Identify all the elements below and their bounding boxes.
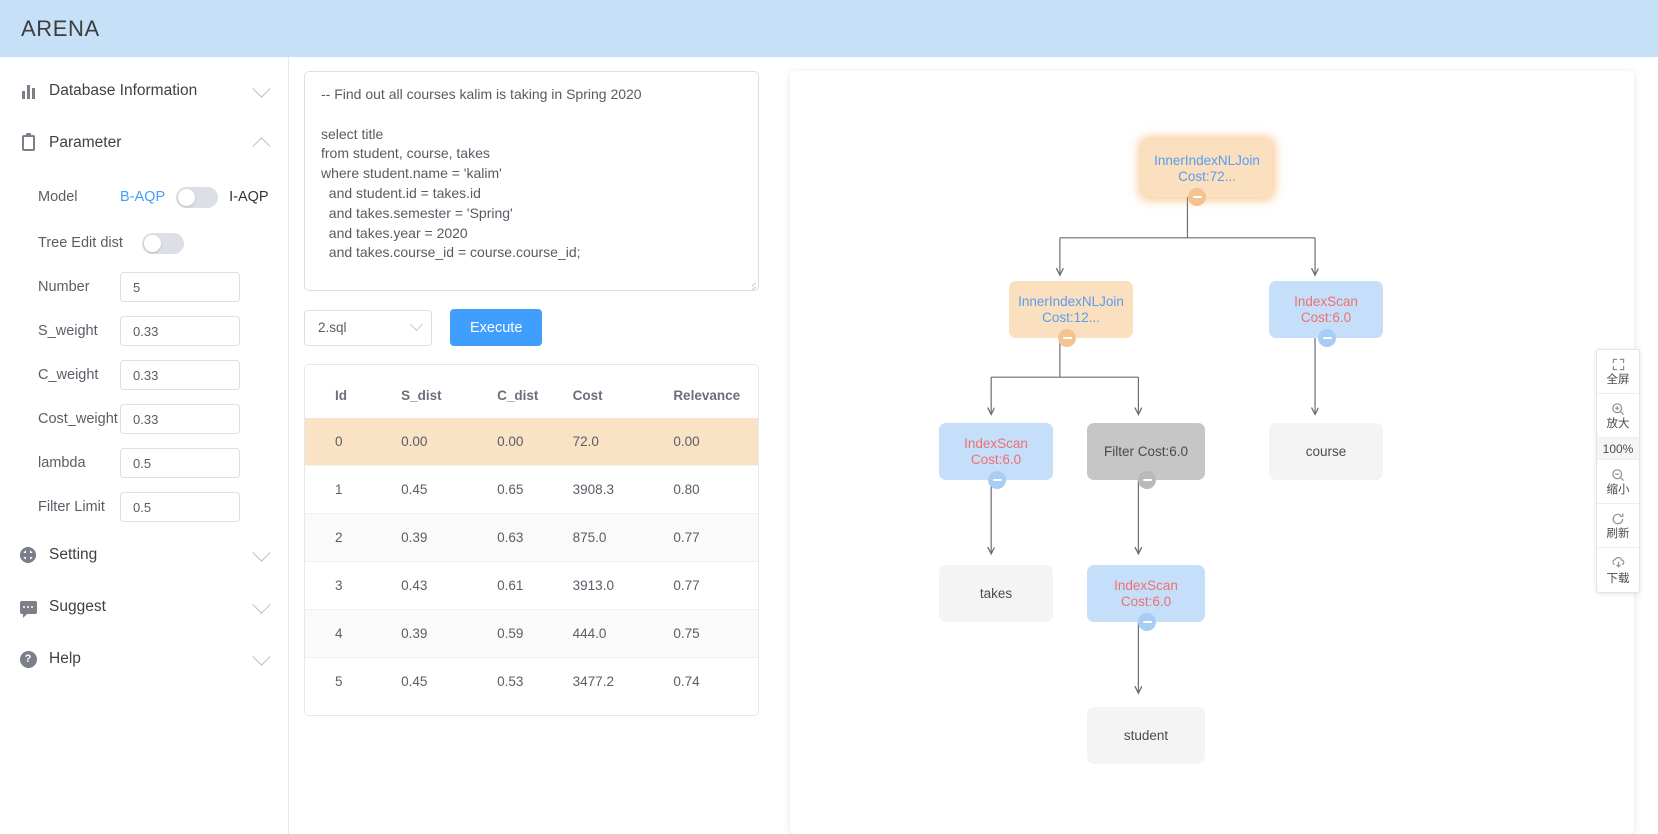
table-row[interactable]: 1 0.45 0.65 3908.3 0.80 xyxy=(305,466,758,514)
sidebar-item-setting[interactable]: Setting xyxy=(0,529,288,581)
clipboard-icon xyxy=(18,133,38,153)
cell-s-dist: 0.45 xyxy=(401,658,497,706)
param-label-filter-limit: Filter Limit xyxy=(38,499,120,515)
resize-handle-icon[interactable] xyxy=(746,278,756,288)
cell-c-dist: 0.59 xyxy=(497,610,573,658)
app-title: ARENA xyxy=(21,16,100,42)
refresh-icon xyxy=(1611,511,1625,526)
sidebar-item-help[interactable]: ? Help xyxy=(0,633,288,685)
app-shell: Database Information Parameter Model B-A… xyxy=(0,57,1658,834)
minus-icon xyxy=(1323,337,1332,339)
minus-icon xyxy=(1143,621,1152,623)
graph-toolbar-label: 放大 xyxy=(1607,418,1630,430)
plan-node-course[interactable]: course xyxy=(1269,423,1383,480)
lambda-input[interactable] xyxy=(120,448,240,478)
cell-c-dist: 0.61 xyxy=(497,562,573,610)
param-row-c-weight: C_weight xyxy=(0,353,288,397)
param-row-filter-limit: Filter Limit xyxy=(0,485,288,529)
fullscreen-icon xyxy=(1612,357,1625,372)
sql-editor[interactable]: -- Find out all courses kalim is taking … xyxy=(304,71,759,291)
node-label-line1: course xyxy=(1306,444,1347,460)
cell-c-dist: 0.65 xyxy=(497,466,573,514)
cell-cost: 3913.0 xyxy=(573,562,674,610)
graph-toolbar: 全屏 放大 100% 缩小 xyxy=(1596,349,1640,593)
plan-node-takes[interactable]: takes xyxy=(939,565,1053,622)
sidebar-item-parameter[interactable]: Parameter xyxy=(0,117,288,169)
node-label-line1: InnerIndexNLJoin xyxy=(1154,153,1260,169)
chevron-down-icon xyxy=(252,595,270,613)
sidebar-item-label: Suggest xyxy=(49,598,255,616)
column-header-relevance: Relevance xyxy=(673,365,758,418)
chevron-down-icon xyxy=(410,318,423,331)
minus-icon xyxy=(1063,337,1072,339)
cell-c-dist: 0.53 xyxy=(497,658,573,706)
sidebar-item-label: Parameter xyxy=(49,134,255,152)
cell-id: 4 xyxy=(305,610,401,658)
model-option-right[interactable]: I-AQP xyxy=(229,189,268,205)
collapse-toggle-root[interactable] xyxy=(1188,188,1206,206)
table-row[interactable]: 3 0.43 0.61 3913.0 0.77 xyxy=(305,562,758,610)
zoom-level-value: 100% xyxy=(1603,443,1634,455)
cell-id: 0 xyxy=(305,418,401,466)
param-label-s-weight: S_weight xyxy=(38,323,120,339)
cell-relevance: 0.74 xyxy=(673,658,758,706)
cell-id: 2 xyxy=(305,514,401,562)
model-option-left[interactable]: B-AQP xyxy=(120,189,165,205)
graph-toolbar-label: 下载 xyxy=(1607,573,1630,585)
param-label-number: Number xyxy=(38,279,120,295)
query-panel: -- Find out all courses kalim is taking … xyxy=(289,57,774,834)
sidebar-item-label: Database Information xyxy=(49,82,255,100)
table-row[interactable]: 4 0.39 0.59 444.0 0.75 xyxy=(305,610,758,658)
graph-toolbar-zoom-level: 100% xyxy=(1597,438,1639,460)
cell-relevance: 0.77 xyxy=(673,562,758,610)
table-row[interactable]: 2 0.39 0.63 875.0 0.77 xyxy=(305,514,758,562)
gear-icon xyxy=(18,545,38,565)
collapse-toggle-join-2[interactable] xyxy=(1058,329,1076,347)
param-label-cost-weight: Cost_weight xyxy=(38,411,120,427)
param-label-model: Model xyxy=(38,189,120,205)
cell-cost: 3477.2 xyxy=(573,658,674,706)
cell-s-dist: 0.39 xyxy=(401,514,497,562)
results-table: Id S_dist C_dist Cost Relevance 0 0.00 0… xyxy=(305,365,758,705)
chevron-down-icon xyxy=(252,647,270,665)
minus-icon xyxy=(1143,479,1152,481)
param-label-tree-edit-dist: Tree Edit dist xyxy=(38,235,142,251)
column-header-cost: Cost xyxy=(573,365,674,418)
collapse-toggle-scan-right[interactable] xyxy=(1318,329,1336,347)
chat-icon xyxy=(18,597,38,617)
cell-relevance: 0.00 xyxy=(673,418,758,466)
node-label-line1: IndexScan xyxy=(1294,294,1358,310)
node-label-line1: student xyxy=(1124,728,1168,744)
parameter-panel: Model B-AQP I-AQP Tree Edit dist Number … xyxy=(0,169,288,529)
cell-cost: 72.0 xyxy=(573,418,674,466)
cell-id: 1 xyxy=(305,466,401,514)
param-row-s-weight: S_weight xyxy=(0,309,288,353)
column-header-id: Id xyxy=(305,365,401,418)
cell-c-dist: 0.63 xyxy=(497,514,573,562)
table-row[interactable]: 0 0.00 0.00 72.0 0.00 xyxy=(305,418,758,466)
model-toggle-switch[interactable] xyxy=(176,187,218,208)
cell-s-dist: 0.00 xyxy=(401,418,497,466)
collapse-toggle-filter[interactable] xyxy=(1138,471,1156,489)
column-header-c-dist: C_dist xyxy=(497,365,573,418)
param-row-model: Model B-AQP I-AQP xyxy=(0,173,288,221)
param-row-tree-edit-dist: Tree Edit dist xyxy=(0,221,288,265)
download-icon xyxy=(1611,556,1626,571)
plan-node-root-join[interactable]: InnerIndexNLJoin Cost:72... xyxy=(1142,140,1272,197)
zoom-out-icon xyxy=(1611,467,1625,482)
question-circle-icon: ? xyxy=(18,649,38,669)
cell-cost: 444.0 xyxy=(573,610,674,658)
param-row-number: Number xyxy=(0,265,288,309)
c-weight-input[interactable] xyxy=(120,360,240,390)
table-header-row: Id S_dist C_dist Cost Relevance xyxy=(305,365,758,418)
sidebar: Database Information Parameter Model B-A… xyxy=(0,57,289,834)
graph-toolbar-label: 刷新 xyxy=(1607,528,1630,540)
collapse-toggle-scan-left[interactable] xyxy=(988,471,1006,489)
graph-toolbar-download[interactable]: 下载 xyxy=(1597,548,1639,592)
graph-toolbar-label: 全屏 xyxy=(1607,374,1630,386)
node-label-line2: Cost:6.0 xyxy=(971,452,1021,468)
sidebar-item-label: Setting xyxy=(49,546,255,564)
s-weight-input[interactable] xyxy=(120,316,240,346)
param-row-cost-weight: Cost_weight xyxy=(0,397,288,441)
cost-weight-input[interactable] xyxy=(120,404,240,434)
cell-s-dist: 0.45 xyxy=(401,466,497,514)
minus-icon xyxy=(1193,196,1202,198)
collapse-toggle-scan-mid[interactable] xyxy=(1138,613,1156,631)
param-row-lambda: lambda xyxy=(0,441,288,485)
graph-toolbar-label: 缩小 xyxy=(1607,484,1630,496)
bar-chart-icon xyxy=(18,81,38,101)
table-row[interactable]: 5 0.45 0.53 3477.2 0.74 xyxy=(305,658,758,706)
sidebar-item-label: Help xyxy=(49,650,255,668)
node-label-line1: takes xyxy=(980,586,1012,602)
sql-file-select[interactable]: 2.sql xyxy=(304,310,432,346)
sql-editor-text[interactable]: -- Find out all courses kalim is taking … xyxy=(321,85,742,263)
graph-toolbar-zoom-in[interactable]: 放大 xyxy=(1597,394,1639,438)
chevron-down-icon xyxy=(252,543,270,561)
sql-file-select-value: 2.sql xyxy=(318,320,412,335)
app-header: ARENA xyxy=(0,0,1658,57)
sidebar-item-suggest[interactable]: Suggest xyxy=(0,581,288,633)
plan-tree-canvas[interactable]: InnerIndexNLJoin Cost:72... InnerIndexNL… xyxy=(790,71,1634,834)
execute-button[interactable]: Execute xyxy=(450,309,542,346)
cell-relevance: 0.75 xyxy=(673,610,758,658)
chevron-up-icon xyxy=(252,137,270,155)
cell-cost: 3908.3 xyxy=(573,466,674,514)
cell-s-dist: 0.39 xyxy=(401,610,497,658)
toggle-knob xyxy=(178,189,195,206)
cell-cost: 875.0 xyxy=(573,514,674,562)
node-label-line1: InnerIndexNLJoin xyxy=(1018,294,1124,310)
cell-c-dist: 0.00 xyxy=(497,418,573,466)
node-label-line2: Cost:72... xyxy=(1178,169,1236,185)
plan-node-student[interactable]: student xyxy=(1087,707,1205,764)
graph-toolbar-fullscreen[interactable]: 全屏 xyxy=(1597,350,1639,394)
number-input[interactable] xyxy=(120,272,240,302)
cell-relevance: 0.80 xyxy=(673,466,758,514)
chevron-down-icon xyxy=(252,79,270,97)
node-label-line2: Cost:6.0 xyxy=(1301,310,1351,326)
toggle-knob xyxy=(144,235,161,252)
zoom-in-icon xyxy=(1611,401,1625,416)
node-label-line2: Cost:12... xyxy=(1042,310,1100,326)
cell-relevance: 0.77 xyxy=(673,514,758,562)
node-label-line2: Cost:6.0 xyxy=(1121,594,1171,610)
cell-id: 5 xyxy=(305,658,401,706)
query-controls: 2.sql Execute xyxy=(304,309,759,346)
node-label-line1: IndexScan xyxy=(964,436,1028,452)
param-label-lambda: lambda xyxy=(38,455,120,471)
graph-toolbar-refresh[interactable]: 刷新 xyxy=(1597,504,1639,548)
plan-tree-panel: InnerIndexNLJoin Cost:72... InnerIndexNL… xyxy=(774,57,1658,834)
filter-limit-input[interactable] xyxy=(120,492,240,522)
node-label-line1: IndexScan xyxy=(1114,578,1178,594)
param-label-c-weight: C_weight xyxy=(38,367,120,383)
results-table-body: 0 0.00 0.00 72.0 0.00 1 0.45 0.65 3908.3… xyxy=(305,418,758,705)
cell-id: 3 xyxy=(305,562,401,610)
minus-icon xyxy=(993,479,1002,481)
sidebar-item-database-information[interactable]: Database Information xyxy=(0,65,288,117)
node-label-line1: Filter Cost:6.0 xyxy=(1104,444,1188,460)
column-header-s-dist: S_dist xyxy=(401,365,497,418)
results-table-card: Id S_dist C_dist Cost Relevance 0 0.00 0… xyxy=(304,364,759,716)
cell-s-dist: 0.43 xyxy=(401,562,497,610)
tree-edit-dist-toggle-switch[interactable] xyxy=(142,233,184,254)
graph-toolbar-zoom-out[interactable]: 缩小 xyxy=(1597,460,1639,504)
results-table-head: Id S_dist C_dist Cost Relevance xyxy=(305,365,758,418)
